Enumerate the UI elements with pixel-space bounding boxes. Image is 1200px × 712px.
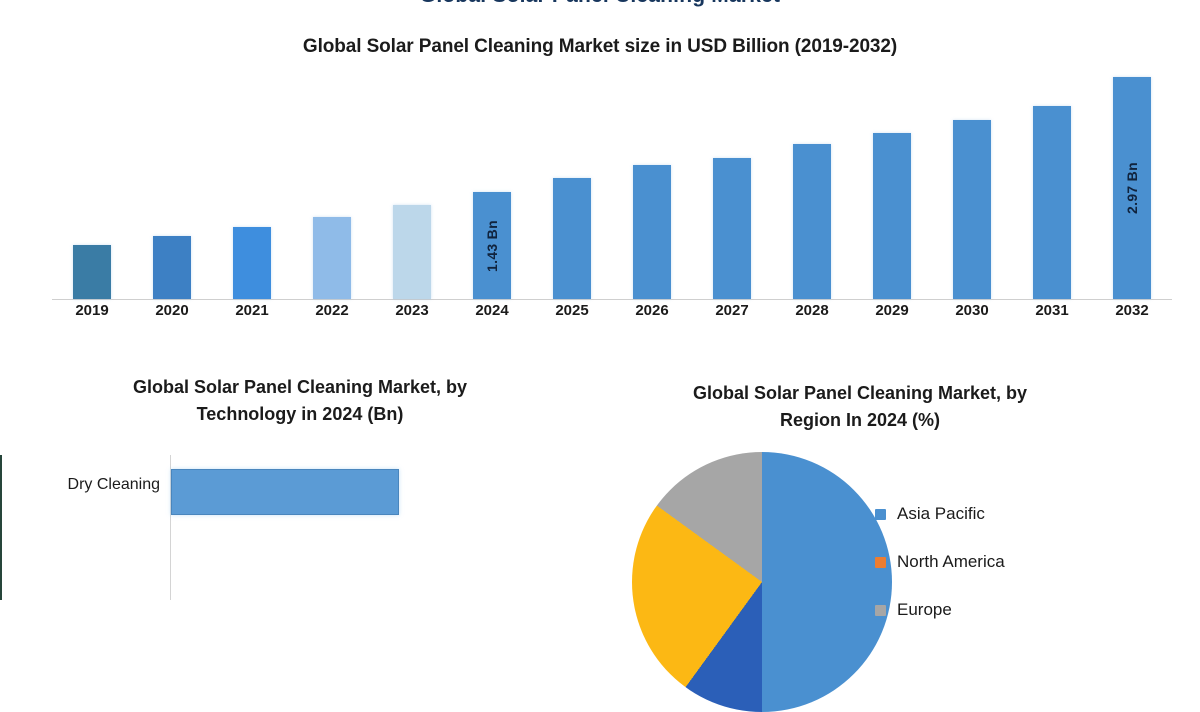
legend-label: Asia Pacific [897,504,985,524]
x-tick-2030: 2030 [932,302,1012,319]
technology-label-dry-cleaning: Dry Cleaning [2,455,160,515]
legend-item-north-america[interactable]: North America [875,538,1115,586]
technology-chart-title: Global Solar Panel Cleaning Market, by T… [20,374,580,428]
legend-item-asia-pacific[interactable]: Asia Pacific [875,490,1115,538]
pie-legend: Asia PacificNorth AmericaEurope [875,490,1115,634]
x-tick-2032: 2032 [1092,302,1172,319]
bar-slot [313,60,351,299]
bar-slot [873,60,911,299]
pie-graphic [632,452,892,712]
x-tick-2022: 2022 [292,302,372,319]
technology-plot-area: Dry Cleaning [0,455,602,600]
bar-2025[interactable] [553,178,591,299]
bar-2022[interactable] [313,217,351,299]
bar-slot: 1.43 Bn [473,60,511,299]
technology-row: Dry Cleaning [2,455,602,515]
bar-2023[interactable] [393,205,431,299]
technology-bar-dry-cleaning[interactable] [171,469,399,515]
bar-slot [233,60,271,299]
x-axis-tick-labels: 2019202020212022202320242025202620272028… [52,302,1172,330]
bar-2030[interactable] [953,120,991,299]
region-title-line-1: Global Solar Panel Cleaning Market, by [693,383,1027,403]
bar-slot [633,60,671,299]
x-tick-2024: 2024 [452,302,532,319]
bar-slot [553,60,591,299]
legend-item-europe[interactable]: Europe [875,586,1115,634]
legend-swatch-icon [875,605,886,616]
technology-bar-chart: Global Solar Panel Cleaning Market, by T… [0,370,600,600]
bar-2027[interactable] [713,158,751,299]
bar-slot [713,60,751,299]
region-pie-chart: Global Solar Panel Cleaning Market, by R… [600,380,1200,600]
x-axis-baseline [52,299,1172,300]
technology-title-line-2: Technology in 2024 (Bn) [197,404,404,424]
legend-label: North America [897,552,1005,572]
x-tick-2019: 2019 [52,302,132,319]
bar-slot [393,60,431,299]
technology-title-line-1: Global Solar Panel Cleaning Market, by [133,377,467,397]
region-chart-title: Global Solar Panel Cleaning Market, by R… [610,380,1110,434]
x-tick-2029: 2029 [852,302,932,319]
bar-value-label: 2.97 Bn [1124,162,1140,214]
bar-slot: 2.97 Bn [1113,60,1151,299]
x-tick-2021: 2021 [212,302,292,319]
x-tick-2028: 2028 [772,302,852,319]
page-headline: Global Solar Panel Cleaning Market [0,0,1200,10]
legend-label: Europe [897,600,952,620]
bar-2020[interactable] [153,236,191,299]
bar-2019[interactable] [73,245,111,299]
bar-2021[interactable] [233,227,271,299]
x-tick-2025: 2025 [532,302,612,319]
x-tick-2031: 2031 [1012,302,1092,319]
bar-2028[interactable] [793,144,831,299]
bar-2029[interactable] [873,133,911,299]
bar-value-label: 1.43 Bn [484,220,500,272]
legend-swatch-icon [875,509,886,520]
bar-2031[interactable] [1033,106,1071,299]
bar-slot [153,60,191,299]
bar-slot [793,60,831,299]
bar-plot-area: 1.43 Bn2.97 Bn [52,60,1172,300]
bar-slot [1033,60,1071,299]
main-chart-title: Global Solar Panel Cleaning Market size … [0,36,1200,58]
bar-2024[interactable]: 1.43 Bn [473,192,511,299]
bar-2032[interactable]: 2.97 Bn [1113,77,1151,299]
bar-slot [953,60,991,299]
bar-slot [73,60,111,299]
x-tick-2026: 2026 [612,302,692,319]
legend-swatch-icon [875,557,886,568]
market-size-bar-chart: Global Solar Panel Cleaning Market size … [0,30,1200,340]
region-title-line-2: Region In 2024 (%) [780,410,940,430]
bar-2026[interactable] [633,165,671,299]
x-tick-2020: 2020 [132,302,212,319]
x-tick-2023: 2023 [372,302,452,319]
x-tick-2027: 2027 [692,302,772,319]
